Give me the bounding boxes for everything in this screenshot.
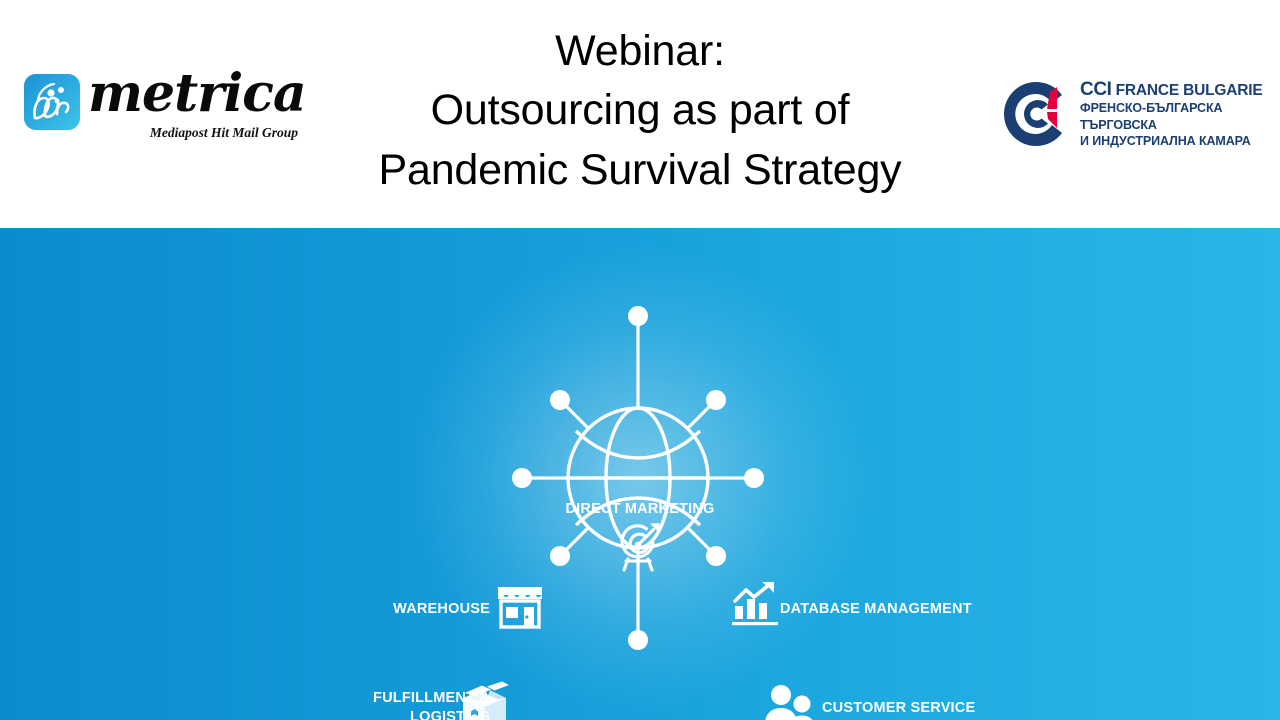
target-dart-easel-icon — [610, 518, 666, 574]
cci-subtitle-line-1: ФРЕНСКО-БЪЛГАРСКА — [1080, 100, 1240, 117]
title-line-2: Outsourcing as part of — [330, 81, 950, 140]
cci-text-block: CCI FRANCE BULGARIE ФРЕНСКО-БЪЛГАРСКА ТЪ… — [1080, 79, 1240, 150]
cci-subtitle-line-3: И ИНДУСТРИАЛНА КАМАРА — [1080, 133, 1240, 150]
slide-title: Webinar: Outsourcing as part of Pandemic… — [330, 22, 950, 200]
label-database-management: DATABASE MANAGEMENT — [780, 600, 1040, 619]
diagram-panel: DIRECT MARKETING DATABASE MANAGEMENT CUS… — [0, 228, 1280, 720]
slide-root: metrica Mediapost Hit Mail Group Webinar… — [0, 0, 1280, 720]
node-dot-telemarketing — [706, 546, 726, 566]
open-box-icon — [457, 680, 512, 720]
cci-abbr: CCI — [1080, 79, 1112, 100]
cci-logo: CCI FRANCE BULGARIE ФРЕНСКО-БЪЛГАРСКА ТЪ… — [1000, 76, 1240, 154]
metrica-swirl-icon — [24, 74, 80, 130]
node-dot-digital-print — [628, 630, 648, 650]
node-dot-fulfillment-logistics — [512, 468, 532, 488]
node-dot-direct-marketing — [628, 306, 648, 326]
cci-c-monogram-icon — [1000, 78, 1072, 150]
metrica-logo: metrica Mediapost Hit Mail Group — [24, 72, 296, 148]
metrica-wordmark: metrica — [88, 68, 306, 120]
label-customer-service: CUSTOMER SERVICE — [822, 699, 1062, 718]
storefront-icon — [496, 581, 544, 629]
label-warehouse: WAREHOUSE — [310, 600, 490, 619]
node-dot-customer-service — [744, 468, 764, 488]
slide-header: metrica Mediapost Hit Mail Group Webinar… — [0, 0, 1280, 228]
title-line-1: Webinar: — [330, 22, 950, 81]
title-line-3: Pandemic Survival Strategy — [330, 141, 950, 200]
hub-spoke-graphic — [0, 228, 1280, 720]
node-dot-database-management — [706, 390, 726, 410]
cci-subtitle-line-2: ТЪРГОВСКА — [1080, 117, 1240, 134]
cci-title-line: CCI FRANCE BULGARIE — [1080, 79, 1240, 100]
two-people-icon — [764, 684, 816, 720]
label-direct-marketing: DIRECT MARKETING — [540, 500, 740, 519]
metrica-tagline: Mediapost Hit Mail Group — [108, 126, 298, 140]
node-dot-fulfillment-online — [550, 546, 570, 566]
cci-country: FRANCE BULGARIE — [1116, 82, 1263, 99]
node-dot-warehouse — [550, 390, 570, 410]
bar-chart-trend-icon — [730, 580, 780, 630]
